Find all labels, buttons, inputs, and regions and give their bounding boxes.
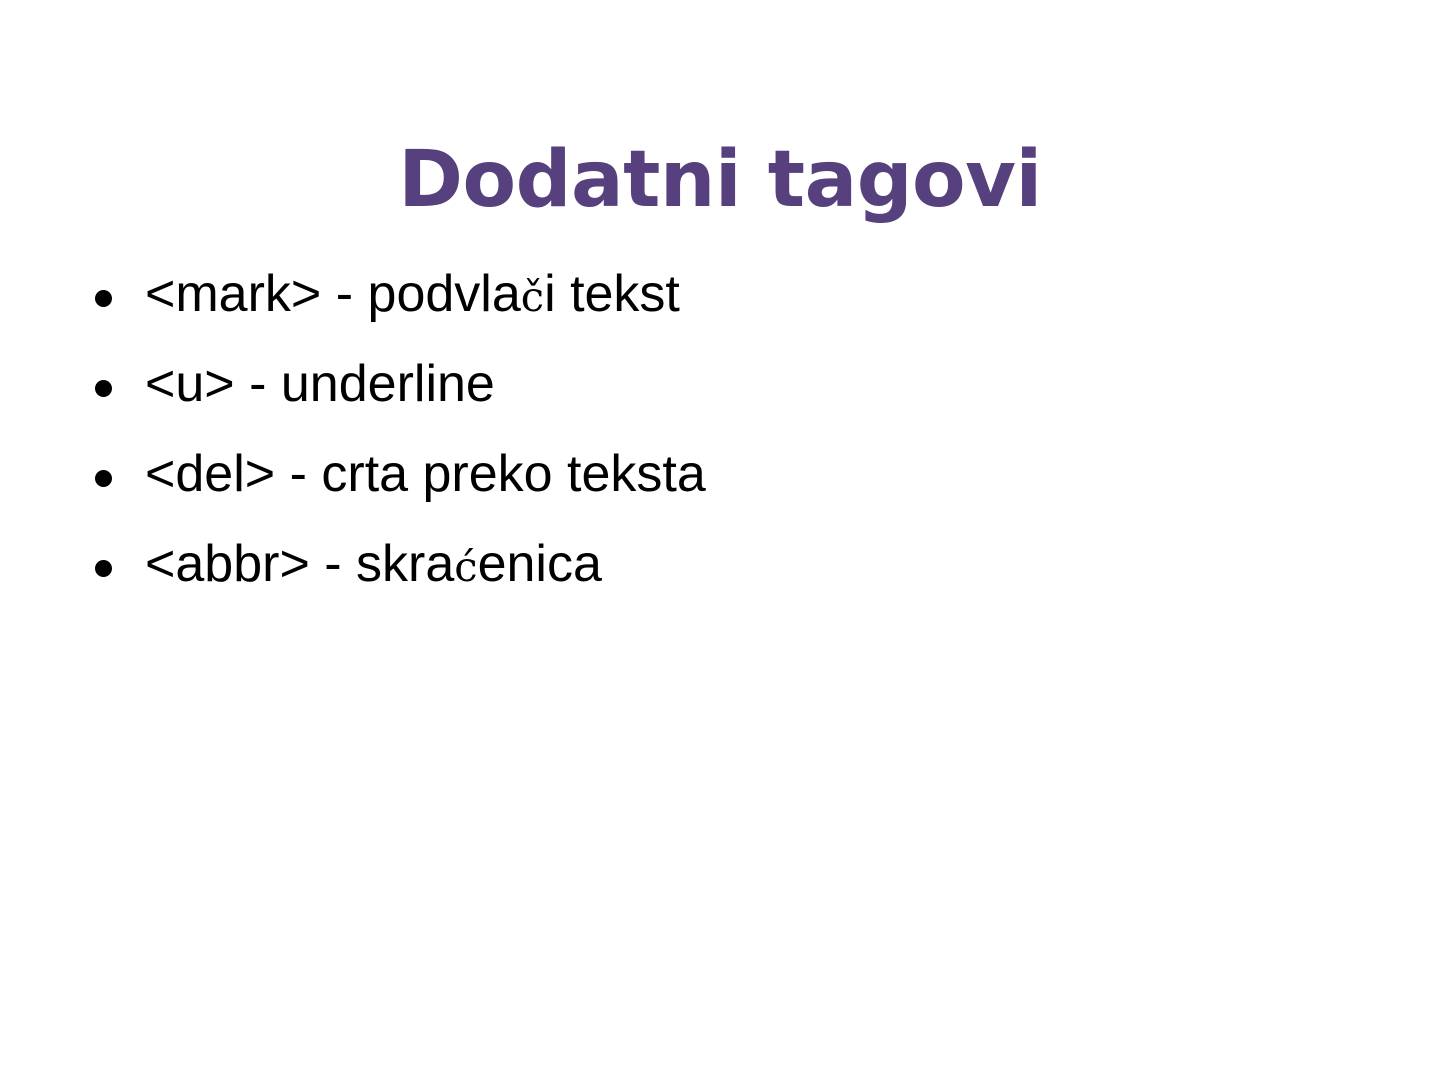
list-item: <del> - crta preko teksta	[88, 442, 1368, 532]
list-item-tag: <mark>	[145, 262, 321, 326]
list-item-description-diacritic: ć	[454, 535, 477, 599]
presentation-slide: Dodatni tagovi <mark> - podvlači tekst <…	[0, 0, 1440, 1080]
bullet-dot-icon	[95, 380, 112, 397]
list-item-description-before: podvla	[368, 262, 521, 326]
list-item-tag: <abbr>	[145, 532, 310, 596]
bullet-dot-icon	[95, 290, 112, 307]
list-item: <abbr> - skraćenica	[88, 532, 1368, 622]
list-item-description-after: i tekst	[544, 262, 680, 326]
list-item-separator: -	[324, 532, 341, 596]
list-item-description-before: underline	[281, 352, 495, 416]
list-item-description-before: skra	[356, 532, 454, 596]
list-item-description-before: crta preko teksta	[321, 442, 705, 506]
list-item-separator: -	[336, 262, 353, 326]
page-title: Dodatni tagovi	[0, 138, 1440, 222]
list-item: <mark> - podvlači tekst	[88, 262, 1368, 352]
bullet-dot-icon	[95, 470, 112, 487]
list-item-tag: <del>	[145, 442, 275, 506]
list-item-separator: -	[249, 352, 266, 416]
list-item: <u> - underline	[88, 352, 1368, 442]
bullet-dot-icon	[95, 560, 112, 577]
list-item-separator: -	[290, 442, 307, 506]
list-item-description-after: enica	[478, 532, 602, 596]
list-item-description-diacritic: č	[521, 265, 544, 329]
bullet-list: <mark> - podvlači tekst <u> - underline …	[88, 262, 1368, 622]
list-item-tag: <u>	[145, 352, 235, 416]
